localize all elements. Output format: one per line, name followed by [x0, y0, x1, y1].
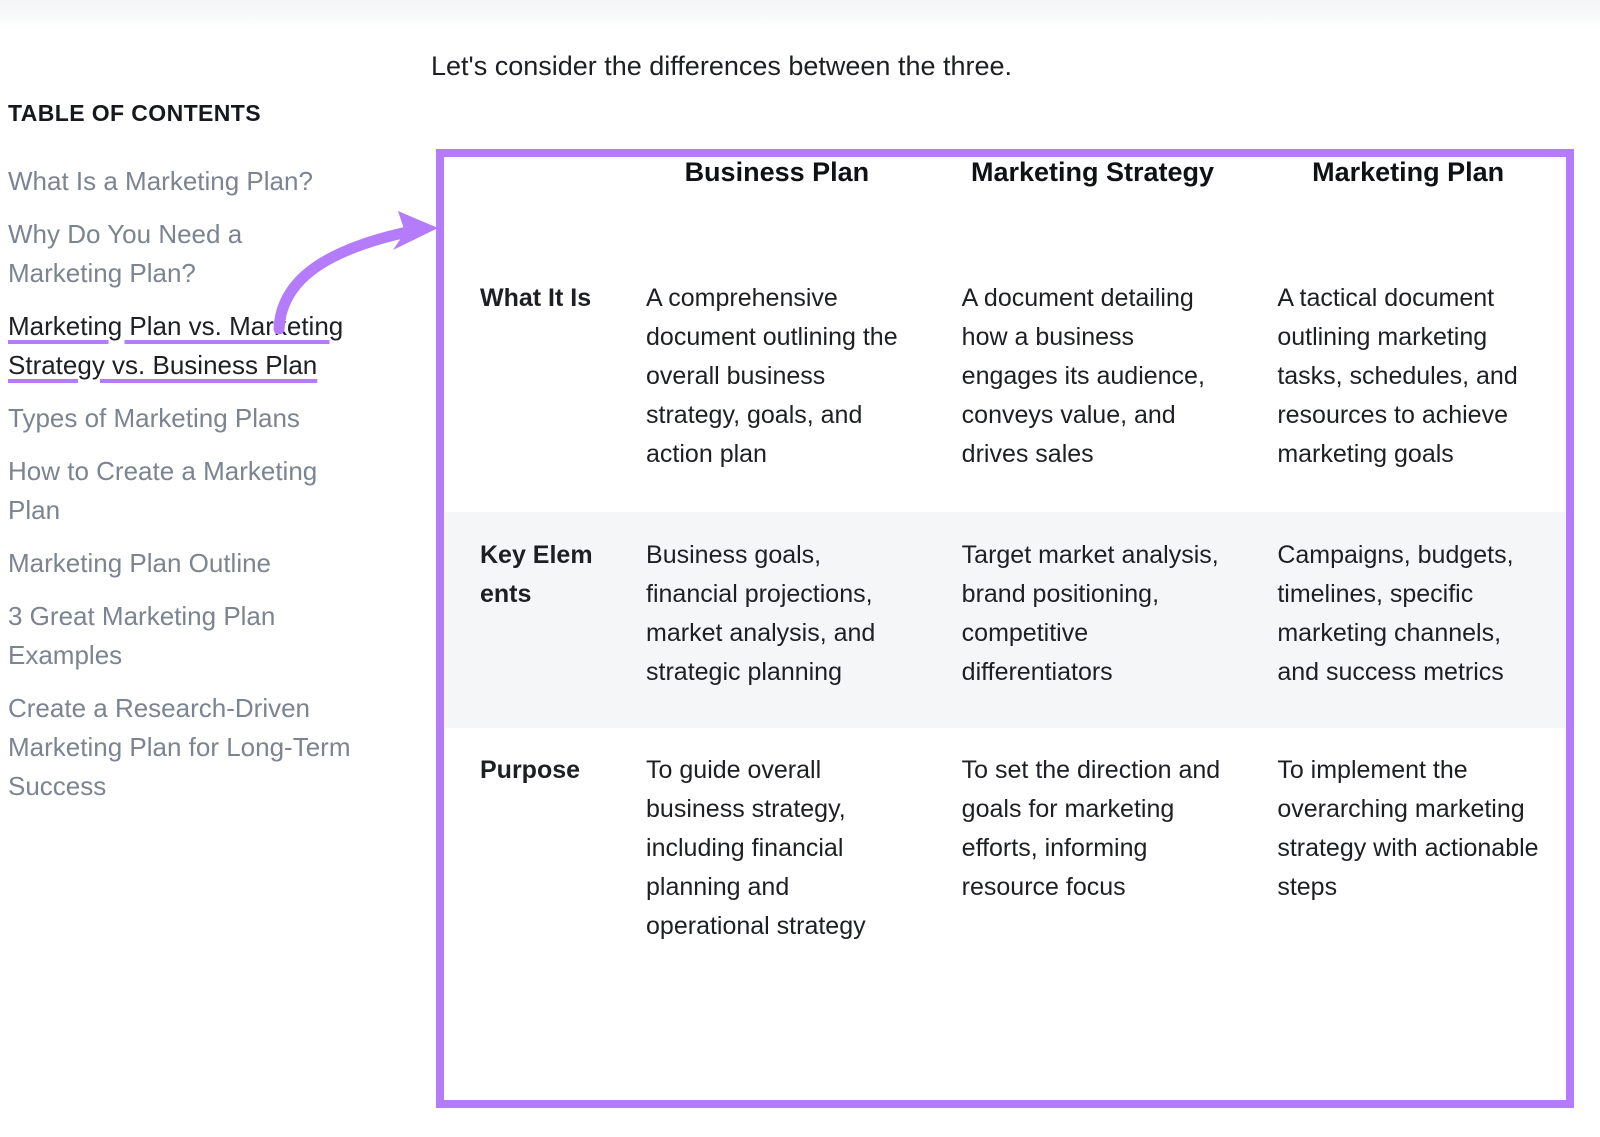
table-row: What It Is A comprehensive document outl…	[444, 255, 1566, 512]
comparison-table-highlight-box: Business Plan Marketing Strategy Marketi…	[436, 149, 1574, 1108]
toc-item-label: Types of Marketing Plans	[8, 403, 300, 433]
cell-key-elements-business-plan: Business goals, financial projections, m…	[619, 512, 935, 728]
comparison-table: Business Plan Marketing Strategy Marketi…	[444, 157, 1566, 982]
toc-item-label: Create a Research-Driven Marketing Plan …	[8, 693, 350, 801]
column-header-marketing-plan: Marketing Plan	[1250, 157, 1566, 255]
cell-what-it-is-business-plan: A comprehensive document outlining the o…	[619, 255, 935, 512]
toc-item-create-a-research-driven-marketing-plan[interactable]: Create a Research-Driven Marketing Plan …	[8, 689, 353, 806]
table-header: Business Plan Marketing Strategy Marketi…	[444, 157, 1566, 255]
toc-item-label: Why Do You Need a Marketing Plan?	[8, 219, 242, 288]
page-top-band	[0, 0, 1600, 30]
toc-item-label: Marketing Plan vs. Marketing Strategy vs…	[8, 311, 343, 380]
cell-purpose-business-plan: To guide overall business strategy, incl…	[619, 728, 935, 982]
column-header-blank	[444, 157, 619, 255]
toc-item-why-do-you-need-a-marketing-plan[interactable]: Why Do You Need a Marketing Plan?	[8, 215, 353, 293]
row-label-what-it-is: What It Is	[444, 255, 619, 512]
toc-list: What Is a Marketing Plan? Why Do You Nee…	[8, 162, 408, 806]
cell-key-elements-marketing-strategy: Target market analysis, brand positionin…	[935, 512, 1251, 728]
toc-item-how-to-create-a-marketing-plan[interactable]: How to Create a Marketing Plan	[8, 452, 353, 530]
table-row: Key Elements Business goals, financial p…	[444, 512, 1566, 728]
intro-paragraph: Let's consider the differences between t…	[431, 48, 1012, 84]
cell-purpose-marketing-plan: To implement the overarching marketing s…	[1250, 728, 1566, 982]
column-header-marketing-strategy: Marketing Strategy	[935, 157, 1251, 255]
toc-item-marketing-plan-vs-strategy-vs-business-plan[interactable]: Marketing Plan vs. Marketing Strategy vs…	[8, 307, 353, 385]
toc-item-label: Marketing Plan Outline	[8, 548, 271, 578]
toc-item-label: What Is a Marketing Plan?	[8, 166, 313, 196]
table-of-contents: TABLE OF CONTENTS What Is a Marketing Pl…	[8, 100, 408, 820]
table-body: What It Is A comprehensive document outl…	[444, 255, 1566, 982]
toc-item-marketing-plan-outline[interactable]: Marketing Plan Outline	[8, 544, 353, 583]
toc-heading: TABLE OF CONTENTS	[8, 100, 408, 128]
table-row: Purpose To guide overall business strate…	[444, 728, 1566, 982]
cell-what-it-is-marketing-strategy: A document detailing how a business enga…	[935, 255, 1251, 512]
column-header-business-plan: Business Plan	[619, 157, 935, 255]
row-label-key-elements: Key Elements	[444, 512, 619, 728]
table-header-row: Business Plan Marketing Strategy Marketi…	[444, 157, 1566, 255]
toc-item-3-great-marketing-plan-examples[interactable]: 3 Great Marketing Plan Examples	[8, 597, 353, 675]
toc-item-types-of-marketing-plans[interactable]: Types of Marketing Plans	[8, 399, 353, 438]
toc-item-what-is-a-marketing-plan[interactable]: What Is a Marketing Plan?	[8, 162, 353, 201]
cell-purpose-marketing-strategy: To set the direction and goals for marke…	[935, 728, 1251, 982]
cell-key-elements-marketing-plan: Campaigns, budgets, timelines, specific …	[1250, 512, 1566, 728]
toc-item-label: How to Create a Marketing Plan	[8, 456, 317, 525]
toc-item-label: 3 Great Marketing Plan Examples	[8, 601, 275, 670]
row-label-purpose: Purpose	[444, 728, 619, 982]
cell-what-it-is-marketing-plan: A tactical document outlining marketing …	[1250, 255, 1566, 512]
